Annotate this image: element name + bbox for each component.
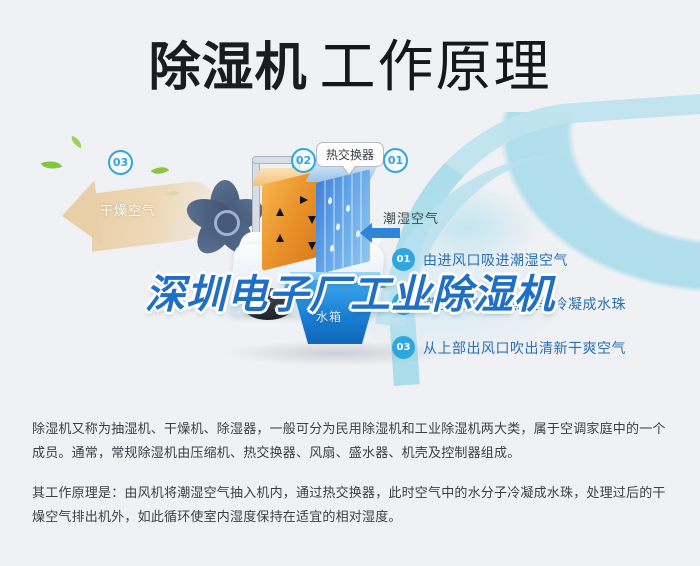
list-item: 03 从上部出风口吹出清新干爽空气 <box>392 336 692 359</box>
fan-hub <box>214 210 240 236</box>
flow-arrow-right <box>300 196 308 204</box>
step-number: 01 <box>392 248 415 271</box>
step-text: 从上部出风口吹出清新干爽空气 <box>423 338 626 358</box>
evaporator-block <box>316 169 370 274</box>
page-title: 除湿机工作原理 <box>0 22 700 103</box>
flow-arrow-down <box>308 242 316 250</box>
heat-exchanger-callout: 热交换器 <box>316 142 384 167</box>
step-number: 02 <box>392 292 415 315</box>
paragraph-2: 其工作原理是：由风机将潮湿空气抽入机内，通过热交换器，此时空气中的水分子冷凝成水… <box>32 482 672 530</box>
leaf-icon <box>41 157 62 172</box>
step-text: 由进风口吸进潮湿空气 <box>423 250 568 270</box>
title-part-1: 除湿机 <box>148 38 307 98</box>
steps-list: 01 由进风口吸进潮湿空气 02 潮湿空气经过蒸发器冷凝成水珠 03 从上部出风… <box>392 248 692 380</box>
infographic-page: 除湿机工作原理 干燥空气 03 <box>0 0 700 566</box>
flow-arrow-up <box>276 208 284 216</box>
diagram-badge-03: 03 <box>108 150 133 175</box>
water-tank-label: 水箱 <box>316 308 342 325</box>
leaf-icon <box>69 136 84 149</box>
intake-air-arrow <box>372 228 400 238</box>
diagram-badge-01: 01 <box>383 148 408 173</box>
flow-arrow-up <box>276 234 284 242</box>
step-text: 潮湿空气经过蒸发器冷凝成水珠 <box>423 294 626 314</box>
diagram-badge-02: 02 <box>291 148 316 173</box>
flow-arrow-down <box>308 216 316 224</box>
title-part-2: 工作原理 <box>320 35 552 100</box>
list-item: 01 由进风口吸进潮湿空气 <box>392 248 692 271</box>
diagram-stage: 干燥空气 03 <box>0 112 700 397</box>
paragraph-1: 除湿机又称为抽湿机、干燥机、除湿器，一般可分为民用除湿机和工业除湿机两大类，属于… <box>32 418 672 466</box>
list-item: 02 潮湿空气经过蒸发器冷凝成水珠 <box>392 292 692 315</box>
dry-air-arrow-head <box>59 180 101 247</box>
humid-air-label: 潮湿空气 <box>383 208 439 227</box>
step-number: 03 <box>392 336 415 359</box>
compressor <box>244 288 292 320</box>
dry-air-label: 干燥空气 <box>100 200 156 219</box>
description-text: 除湿机又称为抽湿机、干燥机、除湿器，一般可分为民用除湿机和工业除湿机两大类，属于… <box>32 418 672 546</box>
